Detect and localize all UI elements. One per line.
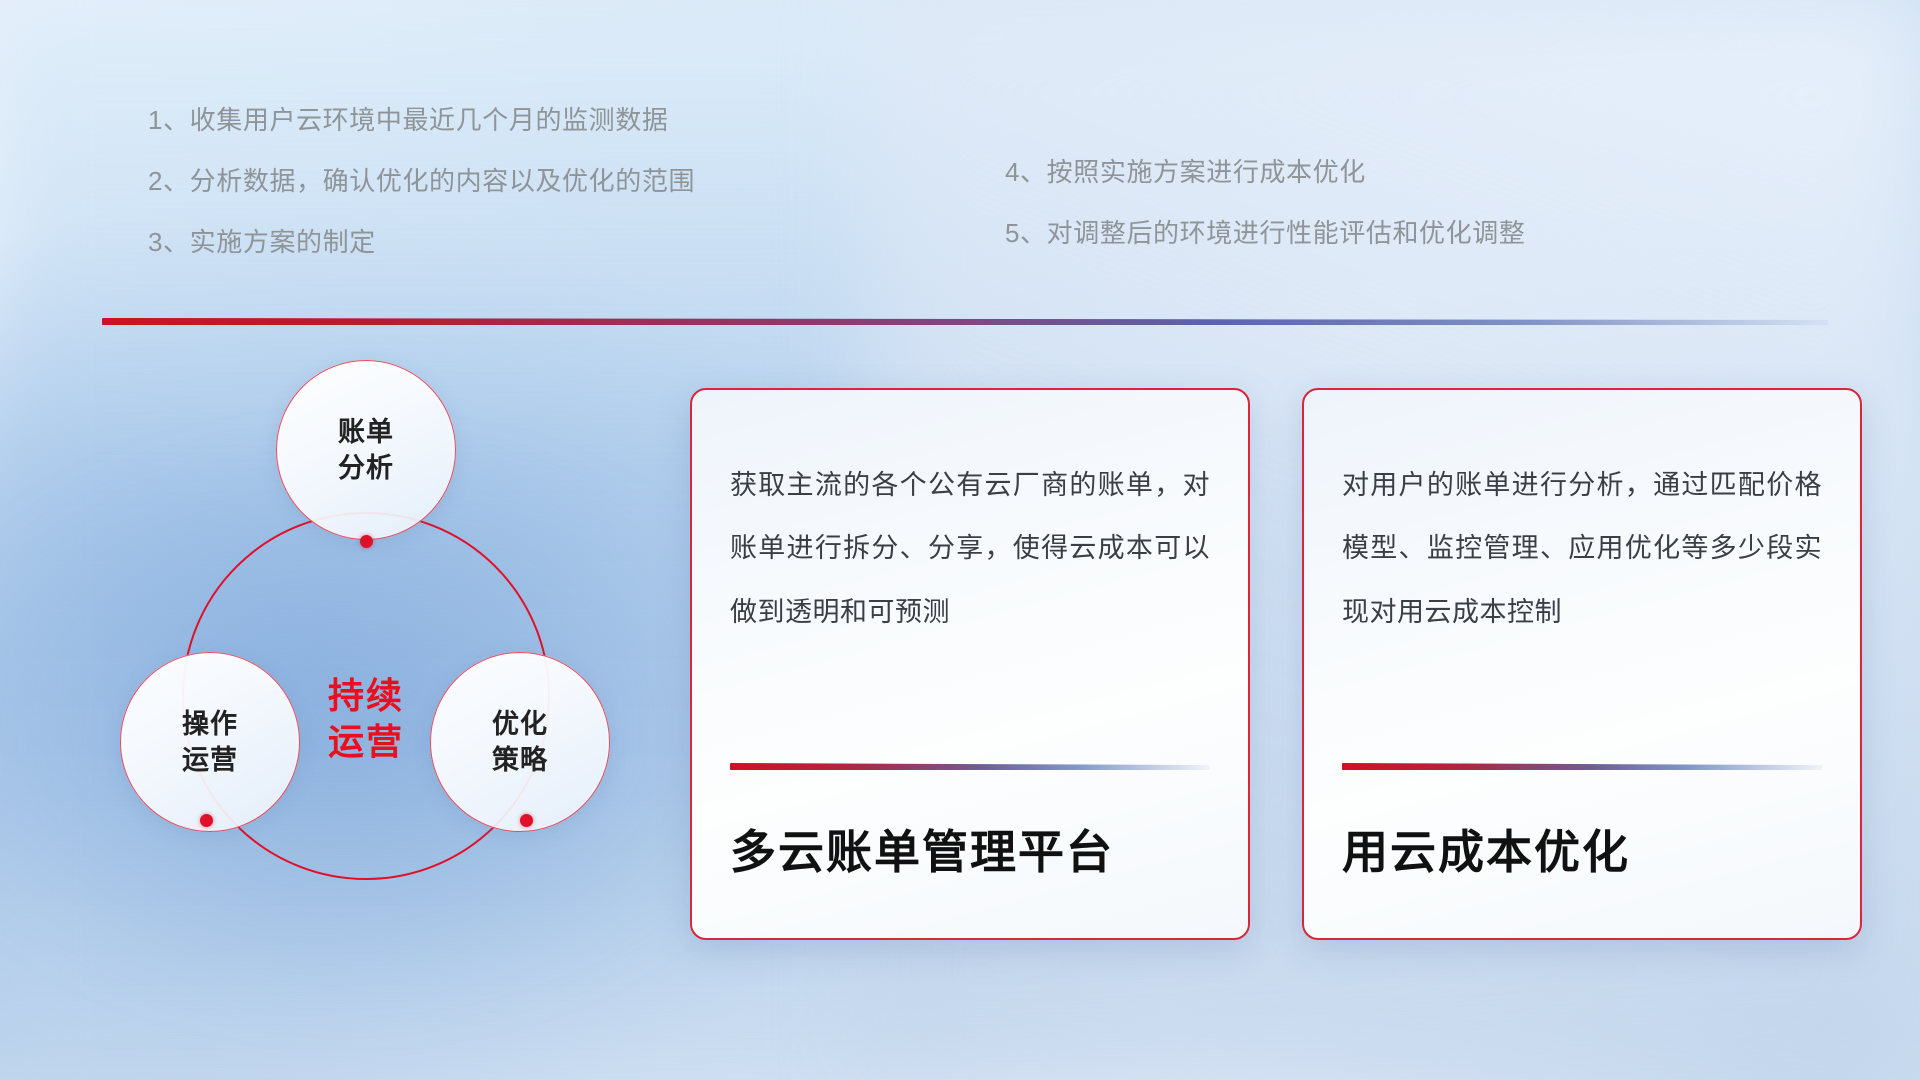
steps-list-right: 4、按照实施方案进行成本优化 5、对调整后的环境进行性能评估和优化调整 xyxy=(1005,152,1525,274)
venn-connector-dot-top xyxy=(360,535,373,548)
venn-node-operations-outline xyxy=(120,652,300,832)
card-body-text: 获取主流的各个公有云厂商的账单，对账单进行拆分、分享，使得云成本可以做到透明和可… xyxy=(730,454,1210,644)
card-title-text: 用云成本优化 xyxy=(1342,770,1822,938)
steps-list-left: 1、收集用户云环境中最近几个月的监测数据 2、分析数据，确认优化的内容以及优化的… xyxy=(148,100,695,283)
card-divider xyxy=(1342,763,1822,770)
card-multi-cloud-billing-platform[interactable]: 获取主流的各个公有云厂商的账单，对账单进行拆分、分享，使得云成本可以做到透明和可… xyxy=(690,388,1250,940)
center-label-line1: 持续 xyxy=(328,675,404,716)
continuous-operations-diagram: 持续 运营 账单 分析 操作 运营 优化 策略 xyxy=(100,352,640,952)
step-item-1: 1、收集用户云环境中最近几个月的监测数据 xyxy=(148,100,695,137)
card-title-text: 多云账单管理平台 xyxy=(730,770,1210,938)
step-item-2: 2、分析数据，确认优化的内容以及优化的范围 xyxy=(148,161,695,198)
step-item-4: 4、按照实施方案进行成本优化 xyxy=(1005,152,1525,189)
step-item-5: 5、对调整后的环境进行性能评估和优化调整 xyxy=(1005,213,1525,250)
card-body-text: 对用户的账单进行分析，通过匹配价格模型、监控管理、应用优化等多少段实现对用云成本… xyxy=(1342,454,1822,644)
step-item-3: 3、实施方案的制定 xyxy=(148,222,695,259)
center-label-line2: 运营 xyxy=(328,721,404,762)
venn-node-strategy-outline xyxy=(430,652,610,832)
venn-connector-dot-left xyxy=(200,814,213,827)
card-divider xyxy=(730,763,1210,770)
venn-node-bill-analysis-outline xyxy=(276,360,456,540)
card-cloud-cost-optimization[interactable]: 对用户的账单进行分析，通过匹配价格模型、监控管理、应用优化等多少段实现对用云成本… xyxy=(1302,388,1862,940)
venn-connector-dot-right xyxy=(520,814,533,827)
